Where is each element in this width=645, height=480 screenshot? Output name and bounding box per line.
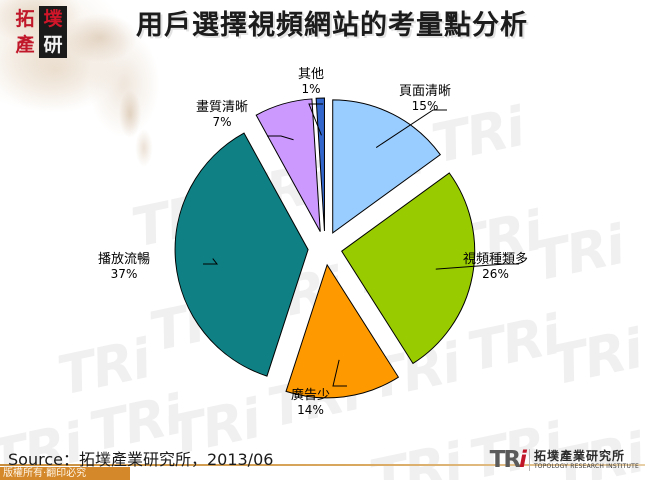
watermark-text: TRi (364, 431, 466, 480)
tri-logo-wordmark: 拓墣產業研究所 TOPOLOGY RESEARCH INSTITUTE (534, 450, 639, 471)
watermark-text: TRi (544, 317, 645, 398)
tri-logo-name-en: TOPOLOGY RESEARCH INSTITUTE (534, 463, 639, 471)
pie-label-0-value: 15% (399, 99, 451, 114)
pie-label-3-name: 播放流暢 (98, 252, 150, 267)
tri-logo-mark-i: i (519, 447, 525, 473)
company-seal-logo: 拓 墣 產 研 (11, 6, 67, 58)
pie-label-0: 頁面清晰 15% (399, 84, 451, 114)
seal-char-2: 墣 (39, 6, 67, 32)
page-title: 用戶選擇視頻網站的考量點分析 (136, 7, 606, 47)
pie-label-5: 其他 1% (298, 67, 324, 97)
pie-label-4-name: 畫質清晰 (196, 100, 248, 115)
pie-chart-svg (95, 52, 555, 412)
tri-logo-mark-text: TR (490, 447, 519, 473)
tri-brand-logo: TRi 拓墣產業研究所 TOPOLOGY RESEARCH INSTITUTE (490, 447, 639, 473)
pie-label-0-name: 頁面清晰 (399, 84, 451, 99)
tri-logo-mark: TRi (490, 449, 525, 472)
seal-char-4: 研 (39, 32, 67, 58)
pie-label-5-value: 1% (298, 82, 324, 97)
copyright-text: 版權所有‧翻印必究 (3, 467, 86, 480)
pie-label-4: 畫質清晰 7% (196, 100, 248, 130)
pie-label-4-value: 7% (196, 115, 248, 130)
seal-char-3: 產 (11, 32, 39, 58)
tri-logo-separator (529, 449, 530, 471)
pie-label-1-value: 26% (463, 267, 528, 282)
pie-chart: 頁面清晰 15% 視頻種類多 26% 廣告少 14% 播放流暢 37% 畫質清晰… (95, 52, 555, 412)
pie-label-2-name: 廣告少 (291, 388, 330, 403)
pie-label-3-value: 37% (98, 267, 150, 282)
pie-label-3: 播放流暢 37% (98, 252, 150, 282)
pie-label-2-value: 14% (291, 403, 330, 418)
pie-label-5-name: 其他 (298, 67, 324, 82)
seal-char-1: 拓 (11, 6, 39, 32)
tri-logo-name-cn: 拓墣產業研究所 (534, 450, 639, 463)
pie-slices (175, 98, 475, 398)
pie-label-2: 廣告少 14% (291, 388, 330, 418)
pie-label-1: 視頻種類多 26% (463, 252, 528, 282)
pie-label-1-name: 視頻種類多 (463, 252, 528, 267)
